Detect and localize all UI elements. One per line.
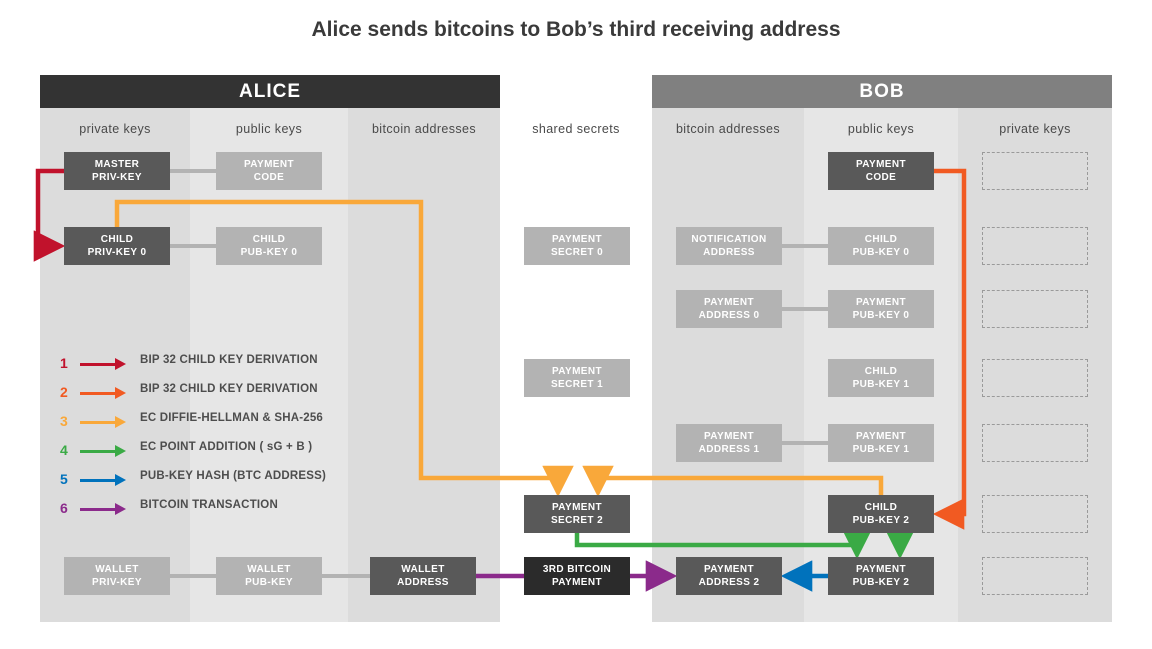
node-payment-secret-0[interactable]: PAYMENTSECRET 0 — [524, 227, 630, 265]
node-bob-priv-slot-1[interactable] — [982, 152, 1088, 190]
node-label-line1: PAYMENT — [856, 430, 906, 443]
node-bob-payment-addr-0[interactable]: PAYMENTADDRESS 0 — [676, 290, 782, 328]
node-label-line1: NOTIFICATION — [691, 233, 766, 246]
legend-number: 5 — [60, 471, 74, 487]
node-bob-priv-slot-6[interactable] — [982, 495, 1088, 533]
legend-arrow-line — [80, 421, 116, 424]
legend-label: BITCOIN TRANSACTION — [140, 499, 278, 511]
node-label-line2: PUB-KEY 0 — [241, 246, 298, 259]
node-label-line1: CHILD — [101, 233, 134, 246]
node-label-line1: PAYMENT — [552, 233, 602, 246]
node-bob-notification[interactable]: NOTIFICATIONADDRESS — [676, 227, 782, 265]
legend-number: 3 — [60, 413, 74, 429]
column-caption-shared-secrets: shared secrets — [500, 118, 652, 140]
node-bob-payment-code[interactable]: PAYMENTCODE — [828, 152, 934, 190]
node-label-line1: WALLET — [401, 563, 445, 576]
node-label-line2: PRIV-KEY 0 — [88, 246, 147, 259]
legend-arrow-head-icon — [115, 474, 126, 486]
node-label-line2: PUB-KEY 2 — [853, 514, 910, 527]
party-header-alice: ALICE — [40, 75, 500, 108]
column-caption-bob-bitcoin-addr: bitcoin addresses — [652, 118, 804, 140]
legend-number: 2 — [60, 384, 74, 400]
node-bob-child-pub-2[interactable]: CHILDPUB-KEY 2 — [828, 495, 934, 533]
node-label-line1: MASTER — [95, 158, 140, 171]
node-alice-child-priv-0[interactable]: CHILDPRIV-KEY 0 — [64, 227, 170, 265]
node-label-line1: WALLET — [247, 563, 291, 576]
node-label-line1: PAYMENT — [856, 563, 906, 576]
column-caption-alice-public-keys: public keys — [190, 118, 348, 140]
legend-arrow-head-icon — [115, 416, 126, 428]
legend-arrow-line — [80, 479, 116, 482]
legend-item-2: 2BIP 32 CHILD KEY DERIVATION — [60, 381, 360, 410]
node-label-line1: PAYMENT — [244, 158, 294, 171]
page-title: Alice sends bitcoins to Bob’s third rece… — [0, 18, 1152, 42]
legend-label: EC DIFFIE-HELLMAN & SHA-256 — [140, 412, 323, 424]
node-label-line2: CODE — [254, 171, 285, 184]
node-label-line1: PAYMENT — [704, 563, 754, 576]
node-bob-child-pub-1[interactable]: CHILDPUB-KEY 1 — [828, 359, 934, 397]
node-label-line2: PUB-KEY 1 — [853, 378, 910, 391]
legend-arrow-head-icon — [115, 503, 126, 515]
node-bob-child-pub-0[interactable]: CHILDPUB-KEY 0 — [828, 227, 934, 265]
node-bob-priv-slot-7[interactable] — [982, 557, 1088, 595]
node-label-line1: CHILD — [865, 365, 898, 378]
legend-arrow-line — [80, 450, 116, 453]
node-label-line2: PUB-KEY 1 — [853, 443, 910, 456]
legend-item-1: 1BIP 32 CHILD KEY DERIVATION — [60, 352, 360, 381]
node-bob-priv-slot-2[interactable] — [982, 227, 1088, 265]
node-bob-payment-addr-2[interactable]: PAYMENTADDRESS 2 — [676, 557, 782, 595]
node-label-line1: CHILD — [253, 233, 286, 246]
node-third-bitcoin-pay[interactable]: 3RD BITCOINPAYMENT — [524, 557, 630, 595]
legend-label: EC POINT ADDITION ( sG + B ) — [140, 441, 312, 453]
node-label-line2: PRIV-KEY — [92, 171, 142, 184]
node-label-line2: PUB-KEY 0 — [853, 309, 910, 322]
node-bob-priv-slot-5[interactable] — [982, 424, 1088, 462]
legend-label: BIP 32 CHILD KEY DERIVATION — [140, 383, 318, 395]
node-bob-payment-pub-1[interactable]: PAYMENTPUB-KEY 1 — [828, 424, 934, 462]
node-label-line2: SECRET 2 — [551, 514, 603, 527]
legend-arrow-line — [80, 392, 116, 395]
column-caption-bob-public-keys: public keys — [804, 118, 958, 140]
column-band-alice-bitcoin-addr — [348, 108, 500, 622]
node-label-line2: ADDRESS — [397, 576, 449, 589]
node-alice-wallet-priv[interactable]: WALLETPRIV-KEY — [64, 557, 170, 595]
node-label-line1: PAYMENT — [704, 430, 754, 443]
legend-number: 4 — [60, 442, 74, 458]
node-label-line1: WALLET — [95, 563, 139, 576]
node-label-line2: ADDRESS 1 — [699, 443, 760, 456]
node-label-line1: PAYMENT — [704, 296, 754, 309]
node-alice-wallet-pub[interactable]: WALLETPUB-KEY — [216, 557, 322, 595]
node-alice-wallet-addr[interactable]: WALLETADDRESS — [370, 557, 476, 595]
legend: 1BIP 32 CHILD KEY DERIVATION2BIP 32 CHIL… — [60, 352, 360, 526]
party-header-bob: BOB — [652, 75, 1112, 108]
node-label-line1: PAYMENT — [856, 296, 906, 309]
legend-arrow-line — [80, 508, 116, 511]
legend-arrow-line — [80, 363, 116, 366]
node-alice-child-pub-0[interactable]: CHILDPUB-KEY 0 — [216, 227, 322, 265]
column-caption-alice-bitcoin-addr: bitcoin addresses — [348, 118, 500, 140]
node-label-line2: PUB-KEY 0 — [853, 246, 910, 259]
node-label-line2: SECRET 1 — [551, 378, 603, 391]
legend-item-3: 3EC DIFFIE-HELLMAN & SHA-256 — [60, 410, 360, 439]
node-bob-priv-slot-4[interactable] — [982, 359, 1088, 397]
node-alice-payment-code[interactable]: PAYMENTCODE — [216, 152, 322, 190]
node-bob-payment-pub-2[interactable]: PAYMENTPUB-KEY 2 — [828, 557, 934, 595]
node-label-line2: PAYMENT — [552, 576, 602, 589]
node-payment-secret-2[interactable]: PAYMENTSECRET 2 — [524, 495, 630, 533]
node-label-line2: ADDRESS 0 — [699, 309, 760, 322]
node-label-line1: CHILD — [865, 233, 898, 246]
node-label-line1: PAYMENT — [552, 501, 602, 514]
node-bob-payment-addr-1[interactable]: PAYMENTADDRESS 1 — [676, 424, 782, 462]
column-caption-bob-private-keys: private keys — [958, 118, 1112, 140]
legend-arrow-head-icon — [115, 358, 126, 370]
node-alice-master-priv[interactable]: MASTERPRIV-KEY — [64, 152, 170, 190]
legend-label: BIP 32 CHILD KEY DERIVATION — [140, 354, 318, 366]
node-label-line2: PUB-KEY — [245, 576, 293, 589]
node-label-line2: SECRET 0 — [551, 246, 603, 259]
node-payment-secret-1[interactable]: PAYMENTSECRET 1 — [524, 359, 630, 397]
node-label-line2: PUB-KEY 2 — [853, 576, 910, 589]
legend-item-5: 5PUB-KEY HASH (BTC ADDRESS) — [60, 468, 360, 497]
node-label-line2: ADDRESS — [703, 246, 755, 259]
column-caption-alice-private-keys: private keys — [40, 118, 190, 140]
legend-label: PUB-KEY HASH (BTC ADDRESS) — [140, 470, 326, 482]
node-label-line1: PAYMENT — [552, 365, 602, 378]
node-label-line2: PRIV-KEY — [92, 576, 142, 589]
legend-arrow-head-icon — [115, 445, 126, 457]
node-label-line2: CODE — [866, 171, 897, 184]
node-label-line2: ADDRESS 2 — [699, 576, 760, 589]
legend-item-6: 6BITCOIN TRANSACTION — [60, 497, 360, 526]
legend-item-4: 4EC POINT ADDITION ( sG + B ) — [60, 439, 360, 468]
legend-number: 1 — [60, 355, 74, 371]
legend-arrow-head-icon — [115, 387, 126, 399]
node-bob-payment-pub-0[interactable]: PAYMENTPUB-KEY 0 — [828, 290, 934, 328]
legend-number: 6 — [60, 500, 74, 516]
node-label-line1: CHILD — [865, 501, 898, 514]
node-label-line1: 3RD BITCOIN — [543, 563, 611, 576]
diagram-canvas: Alice sends bitcoins to Bob’s third rece… — [0, 0, 1152, 649]
node-bob-priv-slot-3[interactable] — [982, 290, 1088, 328]
node-label-line1: PAYMENT — [856, 158, 906, 171]
column-band-bob-bitcoin-addr — [652, 108, 804, 622]
